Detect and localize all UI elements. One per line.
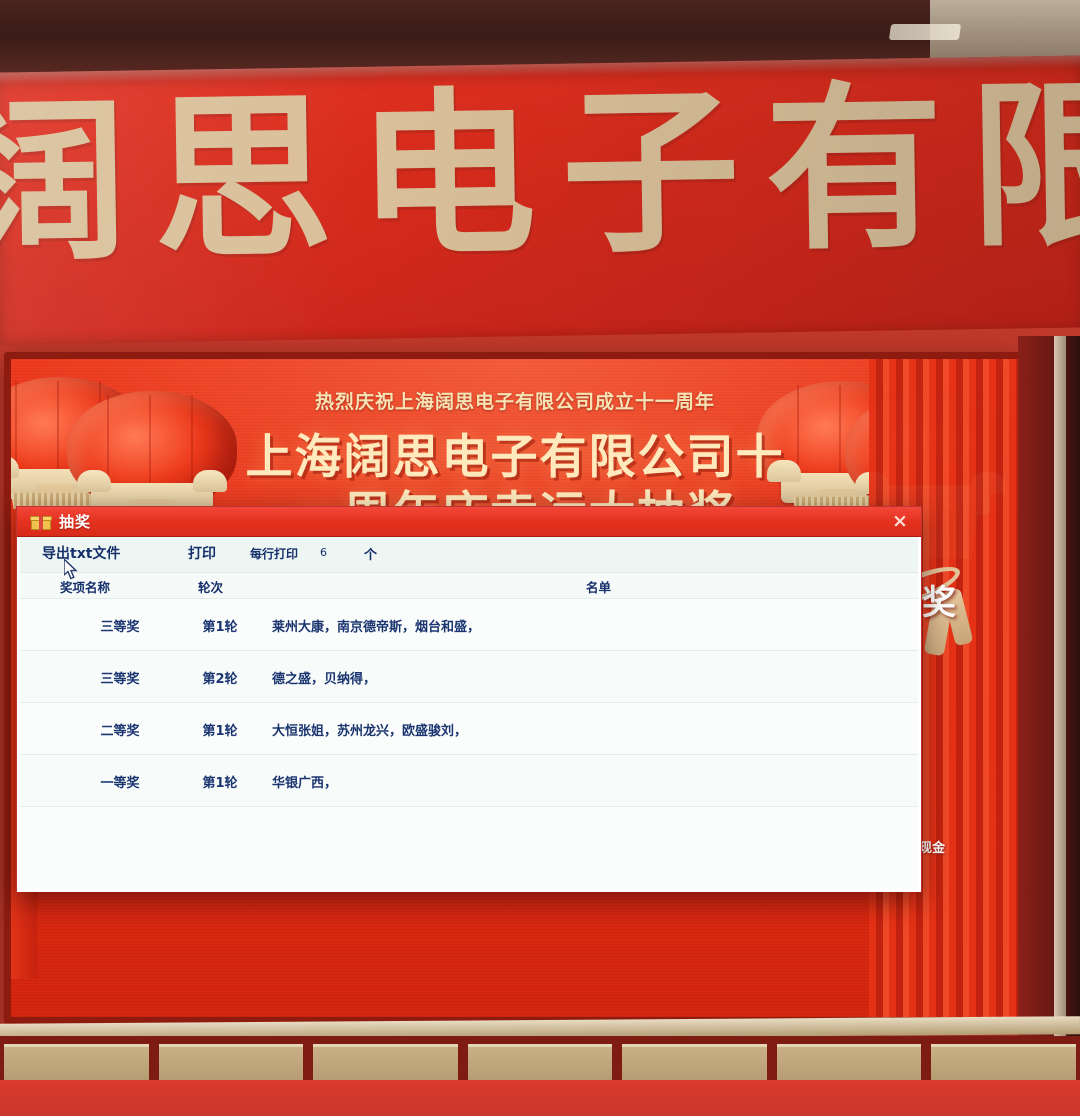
per-line-unit: 个 <box>364 544 377 563</box>
overhead-banner: 阔思电子有限 <box>0 55 1080 344</box>
table-empty-area <box>20 807 918 892</box>
cell-round: 第1轮 <box>188 720 252 739</box>
cell-names: 大恒张姐，苏州龙兴，欧盛骏刘， <box>272 720 467 739</box>
cell-award: 二等奖 <box>60 720 180 739</box>
column-header-names: 名单 <box>586 577 611 596</box>
led-headline: 热烈庆祝上海阔思电子有限公司成立十一周年 <box>11 387 1019 414</box>
table-row[interactable]: 二等奖 第1轮 大恒张姐，苏州龙兴，欧盛骏刘， <box>20 703 918 755</box>
right-wall <box>1018 336 1080 1036</box>
window-body: 导出txt文件 打印 每行打印 6 个 奖项名称 轮次 <box>17 537 921 892</box>
cell-award: 一等奖 <box>60 772 180 791</box>
toolbar: 导出txt文件 打印 每行打印 6 个 <box>20 537 918 573</box>
door-jamb <box>1054 336 1066 1036</box>
per-line-input[interactable]: 6 <box>320 546 346 559</box>
table-body: 三等奖 第1轮 莱州大康，南京德帝斯，烟台和盛， 三等奖 第2轮 德之盛，贝纳得… <box>20 599 918 807</box>
results-table: 奖项名称 轮次 名单 三等奖 第1轮 莱州大康，南京德帝斯，烟台和盛， 三等奖 … <box>20 573 918 892</box>
table-row[interactable]: 三等奖 第2轮 德之盛，贝纳得， <box>20 651 918 703</box>
cell-names: 德之盛，贝纳得， <box>272 668 376 687</box>
table-header-row: 奖项名称 轮次 名单 <box>20 573 918 599</box>
window-title: 抽奖 <box>59 511 91 532</box>
gift-box-icon <box>31 514 51 530</box>
column-header-round: 轮次 <box>198 577 223 596</box>
photo-scene: 阔思电子有限 热烈庆祝上海阔思电子有限公司成立十一周年 上海阔思电子有限公司十 … <box>0 0 1080 1116</box>
per-line-label: 每行打印 <box>250 545 298 562</box>
cell-round: 第2轮 <box>188 668 252 687</box>
table-row[interactable]: 一等奖 第1轮 华银广西， <box>20 755 918 807</box>
cell-award: 三等奖 <box>60 616 180 635</box>
cell-names: 华银广西， <box>272 772 337 791</box>
cell-names: 莱州大康，南京德帝斯，烟台和盛， <box>272 616 480 635</box>
stage-front <box>0 1036 1080 1084</box>
cell-round: 第1轮 <box>188 772 252 791</box>
ceiling-light <box>889 24 961 40</box>
led-title-line1: 上海阔思电子有限公司十 <box>246 430 785 485</box>
print-button[interactable]: 打印 <box>188 543 216 563</box>
table-row[interactable]: 三等奖 第1轮 莱州大康，南京德帝斯，烟台和盛， <box>20 599 918 651</box>
overhead-banner-text: 阔思电子有限 <box>0 76 1080 273</box>
cell-award: 三等奖 <box>60 668 180 687</box>
close-icon[interactable]: × <box>889 511 911 533</box>
lottery-window: 抽奖 × 导出txt文件 打印 每行打印 6 个 <box>16 506 922 892</box>
stage-floor <box>0 1080 1080 1116</box>
cell-round: 第1轮 <box>188 616 252 635</box>
window-titlebar[interactable]: 抽奖 × <box>17 507 921 537</box>
export-txt-button[interactable]: 导出txt文件 <box>42 543 120 563</box>
